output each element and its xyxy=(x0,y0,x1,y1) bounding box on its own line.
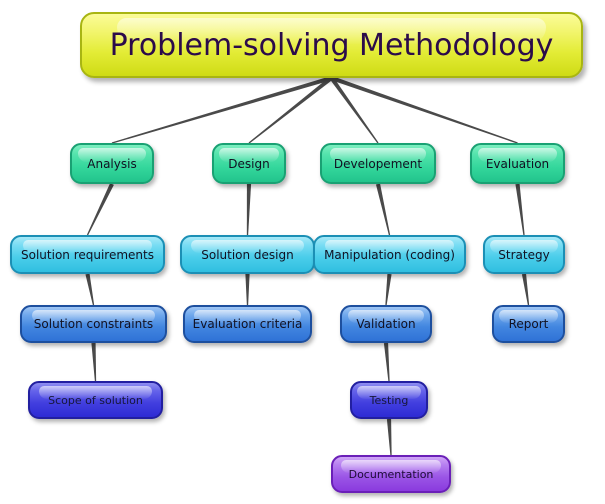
node-label: Solution requirements xyxy=(21,248,154,262)
node-sol-design[interactable]: Solution design xyxy=(180,235,315,274)
edge-title-to-development xyxy=(330,77,379,144)
edge-sol-constr-to-scope xyxy=(91,343,96,381)
node-sol-req[interactable]: Solution requirements xyxy=(10,235,165,274)
edge-title-to-evaluation xyxy=(331,76,518,144)
node-validation[interactable]: Validation xyxy=(340,305,432,343)
node-label: Validation xyxy=(356,317,415,331)
node-label: Documentation xyxy=(349,468,434,481)
edge-evaluation-to-strategy xyxy=(515,184,524,235)
edge-testing-to-documentation xyxy=(387,419,392,455)
node-strategy[interactable]: Strategy xyxy=(483,235,565,274)
edge-sol-req-to-sol-constr xyxy=(85,274,94,306)
edge-sol-design-to-eval-crit xyxy=(245,274,249,305)
edge-strategy-to-report xyxy=(522,274,529,305)
node-label: Scope of solution xyxy=(48,394,143,407)
node-eval-crit[interactable]: Evaluation criteria xyxy=(183,305,312,343)
node-sol-constr[interactable]: Solution constraints xyxy=(20,305,167,343)
node-manipulation[interactable]: Manipulation (coding) xyxy=(313,235,466,274)
node-label: Evaluation criteria xyxy=(193,317,303,331)
node-evaluation[interactable]: Evaluation xyxy=(470,143,565,184)
node-design[interactable]: Design xyxy=(212,143,286,184)
node-label: Solution constraints xyxy=(34,317,153,331)
node-label: Report xyxy=(509,317,549,331)
node-report[interactable]: Report xyxy=(492,305,565,343)
node-development[interactable]: Developement xyxy=(320,143,436,184)
node-label: Developement xyxy=(334,157,422,171)
edge-analysis-to-sol-req xyxy=(87,183,114,235)
edge-validation-to-testing xyxy=(384,343,390,381)
diagram-canvas: Problem-solving MethodologyAnalysisDesig… xyxy=(0,0,605,504)
edge-manipulation-to-validation xyxy=(385,274,391,305)
node-label: Strategy xyxy=(498,248,549,262)
node-testing[interactable]: Testing xyxy=(350,381,428,419)
edge-design-to-sol-design xyxy=(247,184,251,235)
node-label: Solution design xyxy=(201,248,294,262)
node-analysis[interactable]: Analysis xyxy=(70,143,154,184)
node-label: Manipulation (coding) xyxy=(324,248,455,262)
node-label: Analysis xyxy=(87,157,136,171)
node-documentation[interactable]: Documentation xyxy=(331,455,451,493)
edge-title-to-design xyxy=(249,76,333,143)
node-label: Evaluation xyxy=(486,157,549,171)
diagram-title-node: Problem-solving Methodology xyxy=(80,12,583,78)
node-label: Design xyxy=(228,157,269,171)
node-scope[interactable]: Scope of solution xyxy=(28,381,163,419)
edge-development-to-manipulation xyxy=(376,184,390,236)
node-label: Testing xyxy=(370,394,409,407)
diagram-title-label: Problem-solving Methodology xyxy=(110,28,554,63)
edge-title-to-analysis xyxy=(112,76,332,144)
